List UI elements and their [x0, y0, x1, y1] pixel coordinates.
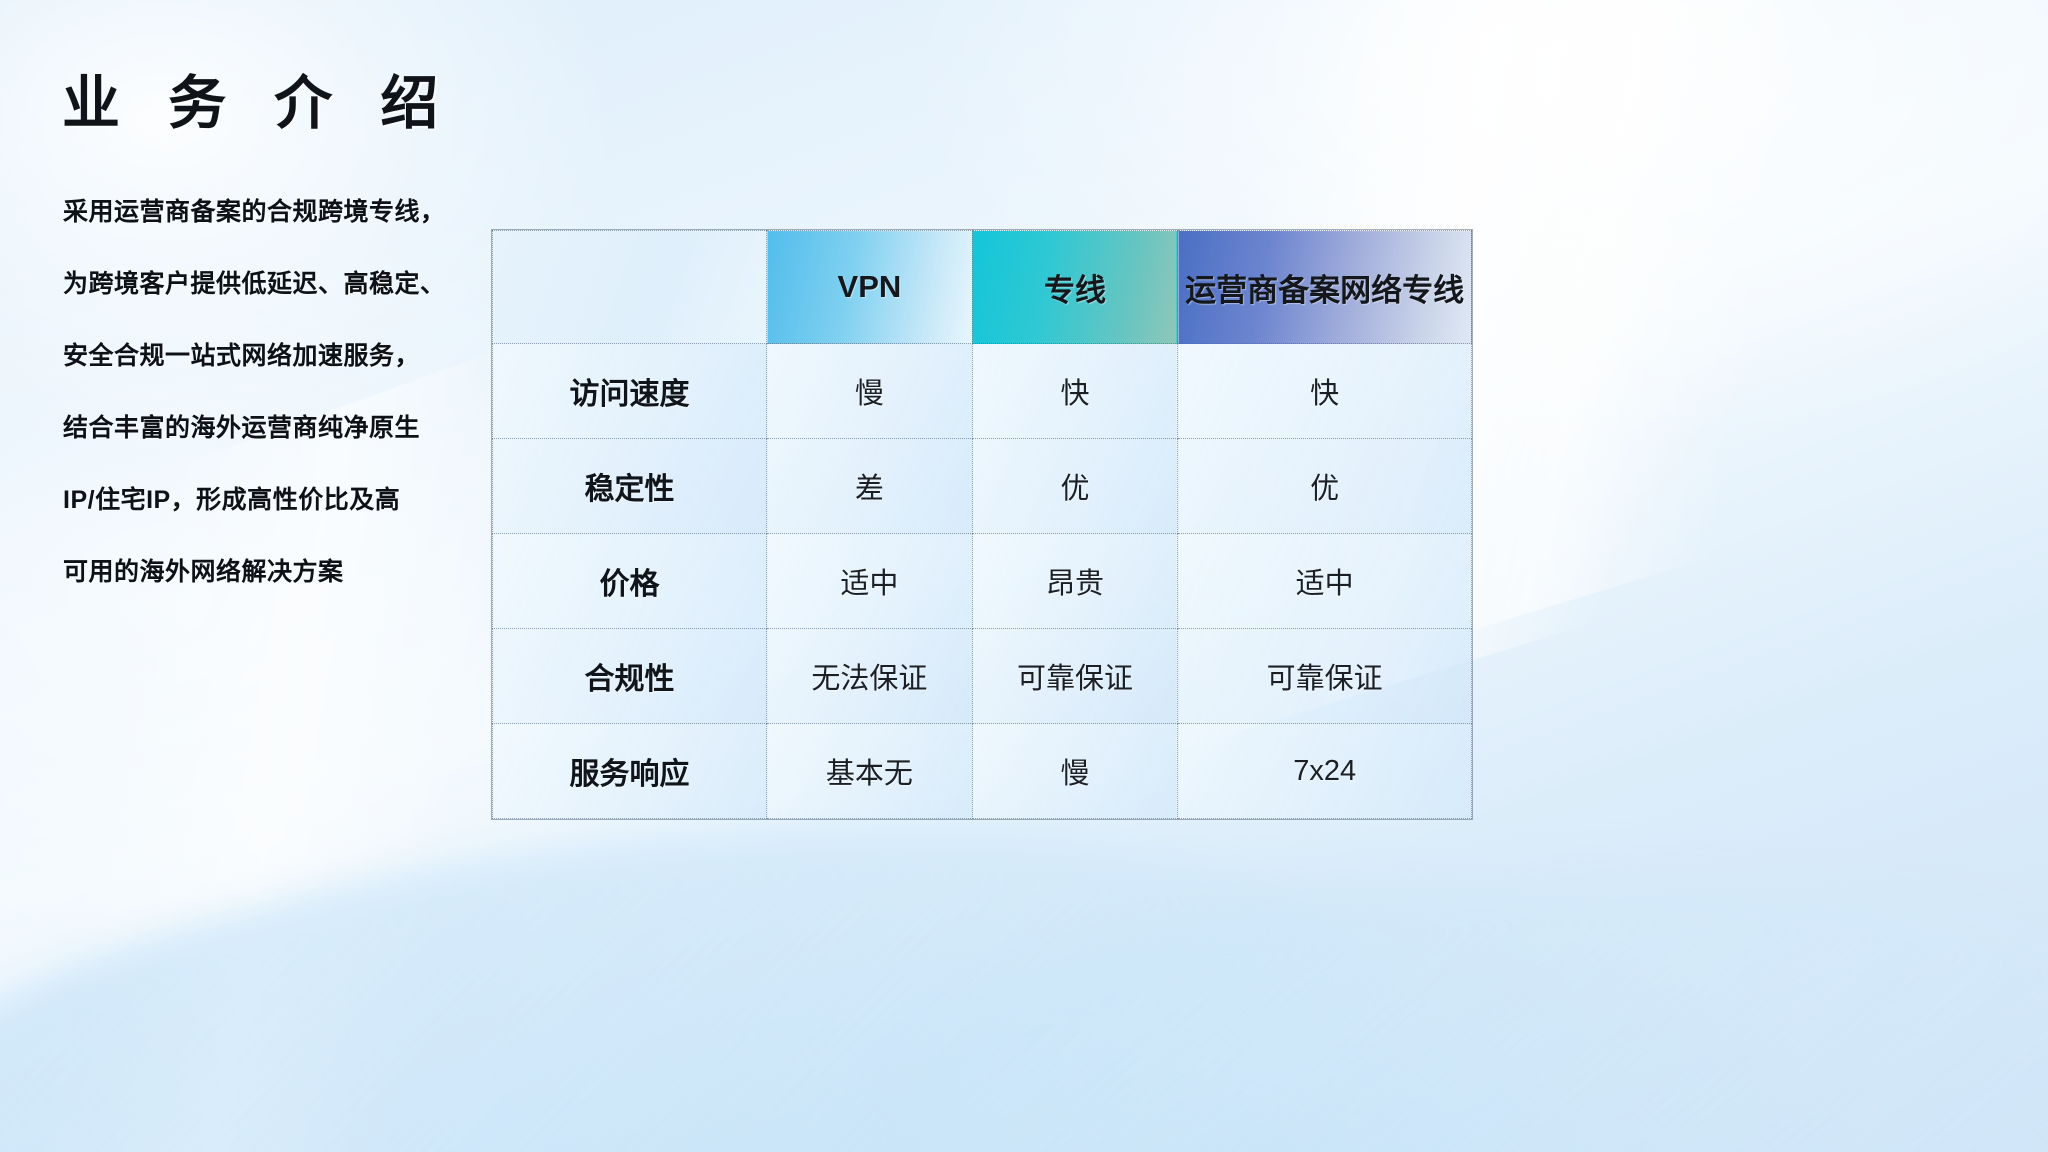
cell-vpn: 慢 [767, 344, 973, 439]
header-cell-blank [493, 231, 767, 344]
cell-carrier: 可靠保证 [1178, 629, 1472, 724]
table-row: 价格 适中 昂贵 适中 [493, 534, 1472, 629]
cell-vpn: 无法保证 [767, 629, 973, 724]
paragraph-line: 结合丰富的海外运营商纯净原生 [63, 392, 493, 464]
bottom-wave-decoration-1 [0, 765, 1398, 1152]
table-row: 服务响应 基本无 慢 7x24 [493, 724, 1472, 819]
paragraph-line: 安全合规一站式网络加速服务， [63, 320, 493, 392]
row-label: 服务响应 [493, 724, 767, 819]
cell-carrier: 适中 [1178, 534, 1472, 629]
header-cell-vpn: VPN [767, 231, 973, 344]
cell-carrier: 7x24 [1178, 724, 1472, 819]
cell-carrier: 优 [1178, 439, 1472, 534]
table-row: 稳定性 差 优 优 [493, 439, 1472, 534]
cell-vpn: 基本无 [767, 724, 973, 819]
table-header: VPN 专线 运营商备案网络专线 [493, 231, 1472, 344]
cell-dedicated: 可靠保证 [972, 629, 1178, 724]
row-label: 稳定性 [493, 439, 767, 534]
row-label: 合规性 [493, 629, 767, 724]
cell-dedicated: 昂贵 [972, 534, 1178, 629]
table-row: 访问速度 慢 快 快 [493, 344, 1472, 439]
paragraph-line: 可用的海外网络解决方案 [63, 536, 493, 608]
table-header-row: VPN 专线 运营商备案网络专线 [493, 231, 1472, 344]
slide-canvas: 业 务 介 绍 采用运营商备案的合规跨境专线， 为跨境客户提供低延迟、高稳定、 … [0, 0, 2048, 1152]
cell-dedicated: 慢 [972, 724, 1178, 819]
header-cell-dedicated-line: 专线 [972, 231, 1178, 344]
table-row: 合规性 无法保证 可靠保证 可靠保证 [493, 629, 1472, 724]
cell-vpn: 差 [767, 439, 973, 534]
bottom-wave-decoration-2 [908, 872, 2048, 1152]
row-label: 访问速度 [493, 344, 767, 439]
page-title: 业 务 介 绍 [62, 56, 454, 140]
table-body: 访问速度 慢 快 快 稳定性 差 优 优 价格 适中 昂贵 适中 合规性 无法保… [493, 344, 1472, 819]
row-label: 价格 [493, 534, 767, 629]
cell-carrier: 快 [1178, 344, 1472, 439]
intro-paragraph: 采用运营商备案的合规跨境专线， 为跨境客户提供低延迟、高稳定、 安全合规一站式网… [63, 176, 493, 608]
paragraph-line: 为跨境客户提供低延迟、高稳定、 [63, 248, 493, 320]
header-cell-carrier-registered-line: 运营商备案网络专线 [1178, 231, 1472, 344]
paragraph-line: IP/住宅IP，形成高性价比及高 [63, 464, 493, 536]
comparison-table: VPN 专线 运营商备案网络专线 访问速度 慢 快 快 稳定性 差 优 优 价格… [492, 230, 1472, 819]
paragraph-line: 采用运营商备案的合规跨境专线， [63, 176, 493, 248]
cell-vpn: 适中 [767, 534, 973, 629]
cell-dedicated: 快 [972, 344, 1178, 439]
cell-dedicated: 优 [972, 439, 1178, 534]
